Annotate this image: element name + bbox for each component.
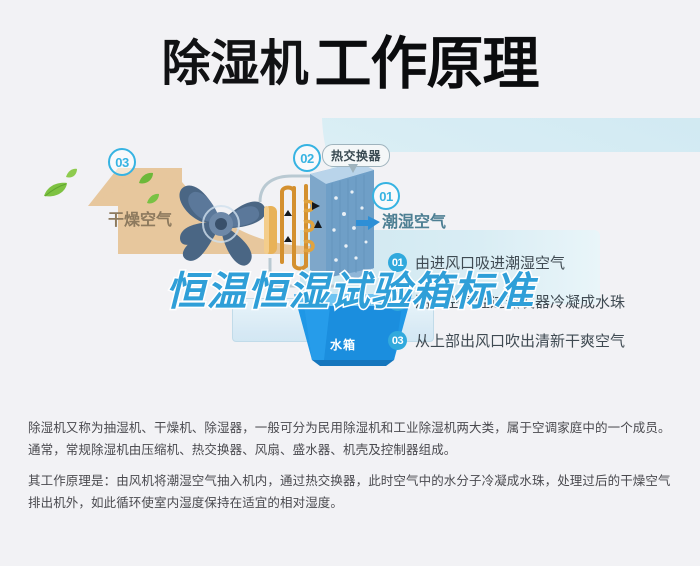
diagram-marker-03: 03 (108, 148, 136, 176)
leaf-icon-3 (138, 172, 154, 190)
legend-item-02: 02 潮湿空气经过蒸发器冷凝成水珠 (388, 289, 688, 314)
paragraph-1-line-2: 通常，常规除湿机由压缩机、热交换器、风扇、盛水器、机壳及控制器组成。 (28, 443, 456, 457)
diagram-marker-02: 02 (293, 144, 321, 172)
page-root: 除湿机 工作原理 (0, 0, 700, 566)
water-tank-label: 水箱 (330, 336, 356, 353)
callout-tail-icon (348, 164, 358, 173)
page-title: 除湿机 工作原理 (0, 28, 700, 100)
body-copy: 除湿机又称为抽湿机、干燥机、除湿器，一般可分为民用除湿机和工业除湿机两大类，属于… (28, 418, 678, 522)
paragraph-2-line-1: 其工作原理是：由风机将潮湿空气抽入机内，通过热交换器，此时空气中的水分子冷凝成水… (28, 474, 671, 488)
title-part-working-principle: 工作原理 (315, 36, 539, 93)
paragraph-1-line-1: 除湿机又称为抽湿机、干燥机、除湿器，一般可分为民用除湿机和工业除湿机两大类，属于… (28, 421, 671, 435)
paragraph-1: 除湿机又称为抽湿机、干燥机、除湿器，一般可分为民用除湿机和工业除湿机两大类，属于… (28, 418, 678, 461)
legend-item-03: 03 从上部出风口吹出清新干爽空气 (388, 328, 688, 353)
legend-badge-01: 01 (388, 253, 407, 272)
diagram-marker-01: 01 (372, 182, 400, 210)
legend-badge-03: 03 (388, 331, 407, 350)
paragraph-2-line-2: 排出机外，如此循环使室内湿度保持在适宜的相对湿度。 (28, 496, 343, 510)
legend-list: 01 由进风口吸进潮湿空气 02 潮湿空气经过蒸发器冷凝成水珠 03 从上部出风… (388, 250, 688, 367)
dry-air-label: 干燥空气 (108, 206, 172, 230)
legend-text-03: 从上部出风口吹出清新干爽空气 (415, 330, 625, 351)
title-part-dehumidifier: 除湿机 (161, 40, 308, 89)
wet-air-label: 潮湿空气 (382, 208, 446, 232)
legend-text-01: 由进风口吸进潮湿空气 (415, 252, 565, 273)
paragraph-2: 其工作原理是：由风机将潮湿空气抽入机内，通过热交换器，此时空气中的水分子冷凝成水… (28, 471, 678, 514)
legend-text-02: 潮湿空气经过蒸发器冷凝成水珠 (415, 291, 625, 312)
leaf-icon-2 (65, 166, 78, 184)
heat-exchanger-unit (248, 158, 380, 308)
legend-item-01: 01 由进风口吸进潮湿空气 (388, 250, 688, 275)
leaf-icon-1 (42, 182, 68, 203)
legend-badge-02: 02 (388, 292, 407, 311)
